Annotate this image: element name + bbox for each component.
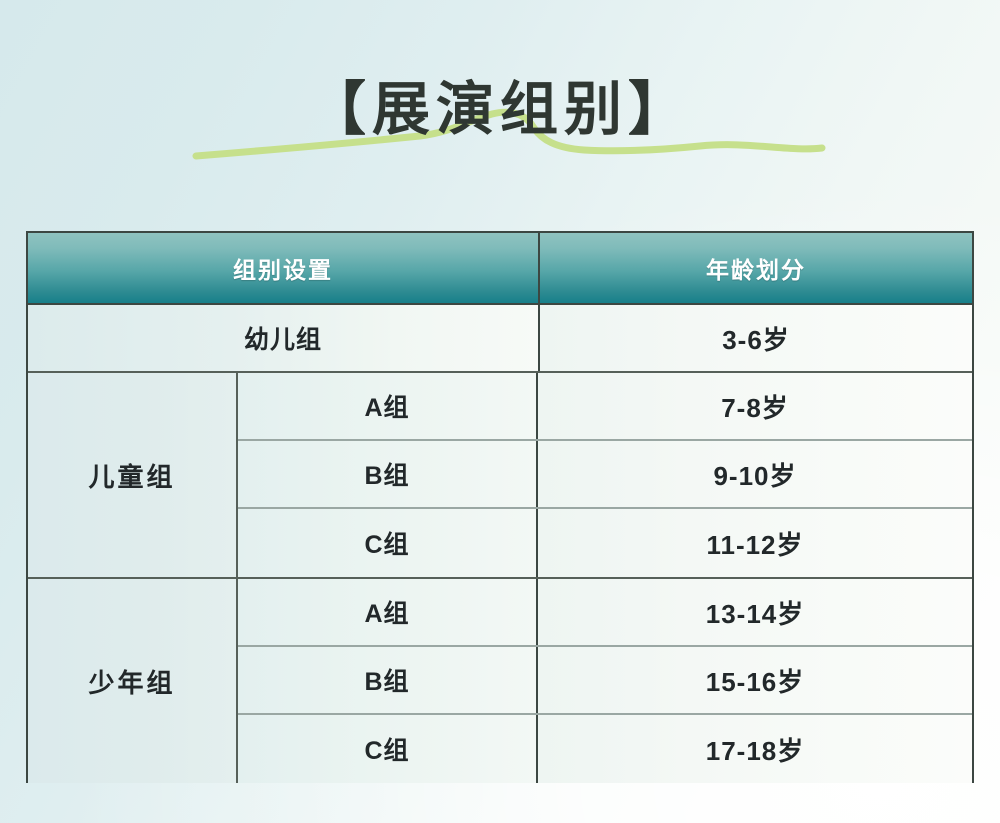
- subgroup-list: A组 7-8岁 B组 9-10岁 C组: [238, 373, 972, 577]
- subgroup-name-cell: C组: [238, 509, 538, 577]
- table-row: C组 11-12岁: [238, 509, 972, 577]
- age-range-label: 15-16岁: [706, 662, 805, 699]
- table-row: B组 15-16岁: [238, 647, 972, 715]
- groups-table: 组别设置 年龄划分 幼儿组 3-6岁 儿童组 A组: [26, 231, 974, 783]
- table-header-row: 组别设置 年龄划分: [28, 233, 972, 305]
- age-range-label: 17-18岁: [706, 731, 805, 768]
- table-row: B组 9-10岁: [238, 441, 972, 509]
- subgroup-name-cell: A组: [238, 373, 538, 439]
- page-title: 【展演组别】: [0, 74, 1000, 146]
- subgroup-name-cell: B组: [238, 647, 538, 713]
- header-label-age: 年龄划分: [706, 251, 806, 285]
- table-row: A组 13-14岁: [238, 579, 972, 647]
- table-row: C组 17-18岁: [238, 715, 972, 783]
- group-name-cell: 少年组: [28, 579, 238, 783]
- group-name-label: 幼儿组: [244, 320, 322, 356]
- age-range-cell: 9-10岁: [538, 441, 972, 507]
- subgroup-name-cell: B组: [238, 441, 538, 507]
- age-range-label: 7-8岁: [721, 388, 789, 425]
- age-range-label: 9-10岁: [713, 456, 796, 493]
- group-name-label: 儿童组: [88, 457, 175, 494]
- age-range-label: 11-12岁: [706, 525, 803, 562]
- age-range-cell: 15-16岁: [538, 647, 972, 713]
- subgroup-list: A组 13-14岁 B组 15-16岁 C组: [238, 579, 972, 783]
- table-row: 幼儿组 3-6岁: [28, 305, 972, 373]
- age-range-cell: 11-12岁: [538, 509, 972, 577]
- age-range-label: 13-14岁: [706, 594, 805, 631]
- header-cell-group: 组别设置: [28, 233, 540, 303]
- age-range-cell: 3-6岁: [540, 305, 972, 371]
- table-row-group: 儿童组 A组 7-8岁 B组 9-10岁: [28, 373, 972, 579]
- table-body: 幼儿组 3-6岁 儿童组 A组 7-8岁: [28, 305, 972, 783]
- table-row-group: 少年组 A组 13-14岁 B组 15-16岁: [28, 579, 972, 783]
- header-cell-age: 年龄划分: [540, 233, 972, 303]
- table-row: A组 7-8岁: [238, 373, 972, 441]
- subgroup-name-label: B组: [364, 456, 409, 492]
- subgroup-name-label: A组: [364, 388, 409, 424]
- header-label-group: 组别设置: [233, 251, 333, 285]
- age-range-cell: 13-14岁: [538, 579, 972, 645]
- group-name-cell: 幼儿组: [28, 305, 540, 371]
- subgroup-name-label: C组: [364, 731, 409, 767]
- subgroup-name-label: A组: [364, 594, 409, 630]
- subgroup-name-label: B组: [364, 662, 409, 698]
- subgroup-name-cell: C组: [238, 715, 538, 783]
- title-section: 【展演组别】: [0, 58, 1000, 178]
- age-range-cell: 17-18岁: [538, 715, 972, 783]
- age-range-label: 3-6岁: [722, 320, 790, 357]
- subgroup-name-cell: A组: [238, 579, 538, 645]
- group-name-label: 少年组: [88, 663, 175, 700]
- subgroup-name-label: C组: [364, 525, 409, 561]
- group-name-cell: 儿童组: [28, 373, 238, 577]
- age-range-cell: 7-8岁: [538, 373, 972, 439]
